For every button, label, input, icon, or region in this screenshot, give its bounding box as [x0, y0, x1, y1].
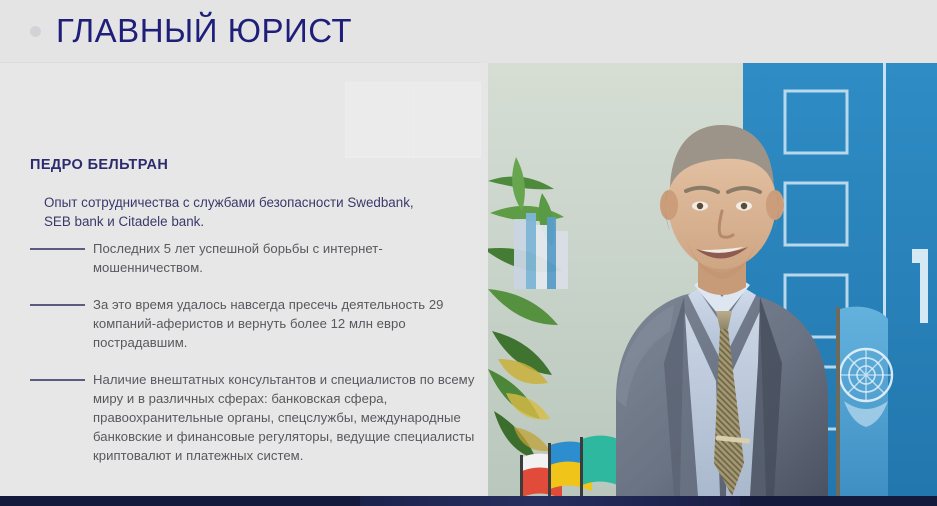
dash-marker-icon — [30, 304, 85, 306]
page-title: ГЛАВНЫЙ ЮРИСТ — [56, 14, 352, 50]
list-item: Последних 5 лет успешной борьбы с интерн… — [30, 239, 480, 277]
profile-photo-illustration — [488, 63, 937, 496]
dash-marker-icon — [30, 379, 85, 381]
dot-icon — [30, 26, 41, 37]
list-item-text: За это время удалось навсегда пресечь де… — [93, 295, 480, 352]
list-item: За это время удалось навсегда пресечь де… — [30, 295, 480, 352]
profile-lead-text: Опыт сотрудничества с службами безопасно… — [44, 193, 444, 231]
dash-marker-icon — [30, 248, 85, 250]
slide-header: ГЛАВНЫЙ ЮРИСТ — [0, 0, 937, 63]
bottom-band — [0, 496, 937, 506]
content-pane: ПЕДРО БЕЛЬТРАН Опыт сотрудничества с слу… — [0, 63, 481, 496]
list-item-text: Наличие внештатных консультантов и специ… — [93, 370, 480, 465]
profile-photo — [488, 63, 937, 496]
list-item: Наличие внештатных консультантов и специ… — [30, 370, 480, 465]
person-name: ПЕДРО БЕЛЬТРАН — [30, 157, 168, 173]
decorative-watermark — [345, 82, 481, 157]
list-item-text: Последних 5 лет успешной борьбы с интерн… — [93, 239, 480, 277]
slide-root: ГЛАВНЫЙ ЮРИСТ ПЕДРО БЕЛЬТРАН Опыт сотруд… — [0, 0, 937, 506]
decorative-watermark-secondary — [345, 157, 481, 183]
profile-bullet-list: Последних 5 лет успешной борьбы с интерн… — [30, 239, 480, 483]
bottom-band-highlight — [360, 496, 740, 506]
